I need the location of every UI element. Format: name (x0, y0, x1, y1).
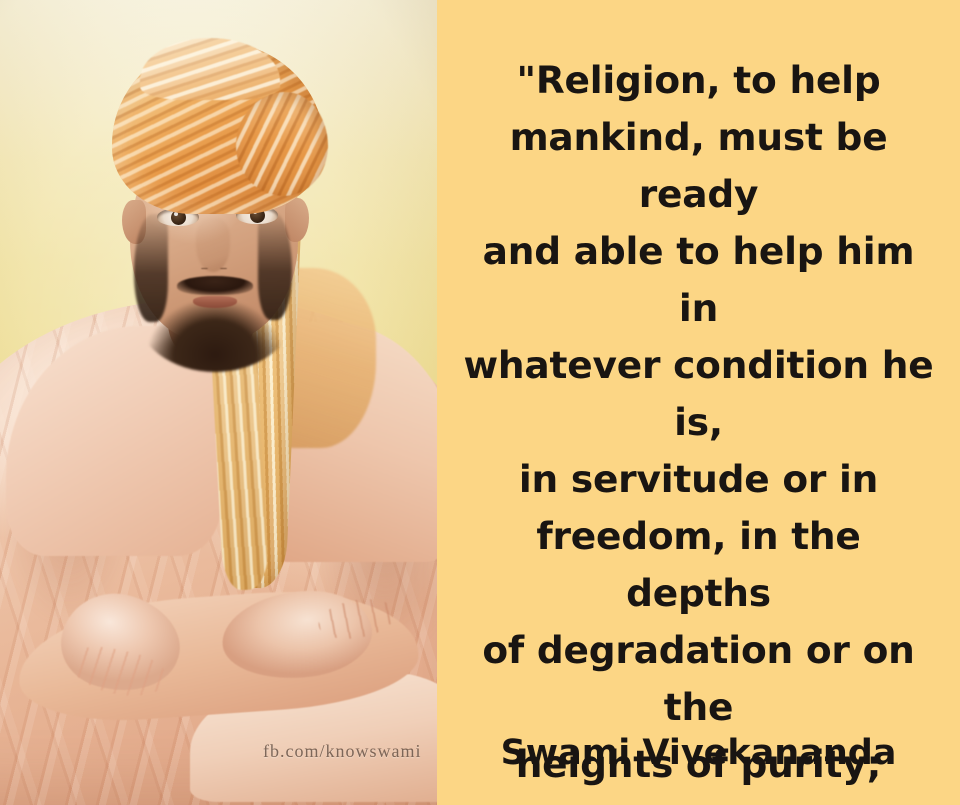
quote-panel: "Religion, to help mankind, must be read… (437, 0, 960, 805)
portrait-photo: fb.com/knowswami (0, 0, 437, 805)
quote-author: Swami Vivekananda (459, 733, 939, 773)
watermark-text: fb.com/knowswami (263, 741, 421, 762)
lips (193, 296, 237, 308)
quote-card: fb.com/knowswami "Religion, to help mank… (0, 0, 960, 805)
quote-body: "Religion, to help mankind, must be read… (459, 52, 939, 805)
moustache (177, 276, 253, 295)
nostrils (197, 264, 231, 273)
turban-knot (236, 92, 328, 196)
